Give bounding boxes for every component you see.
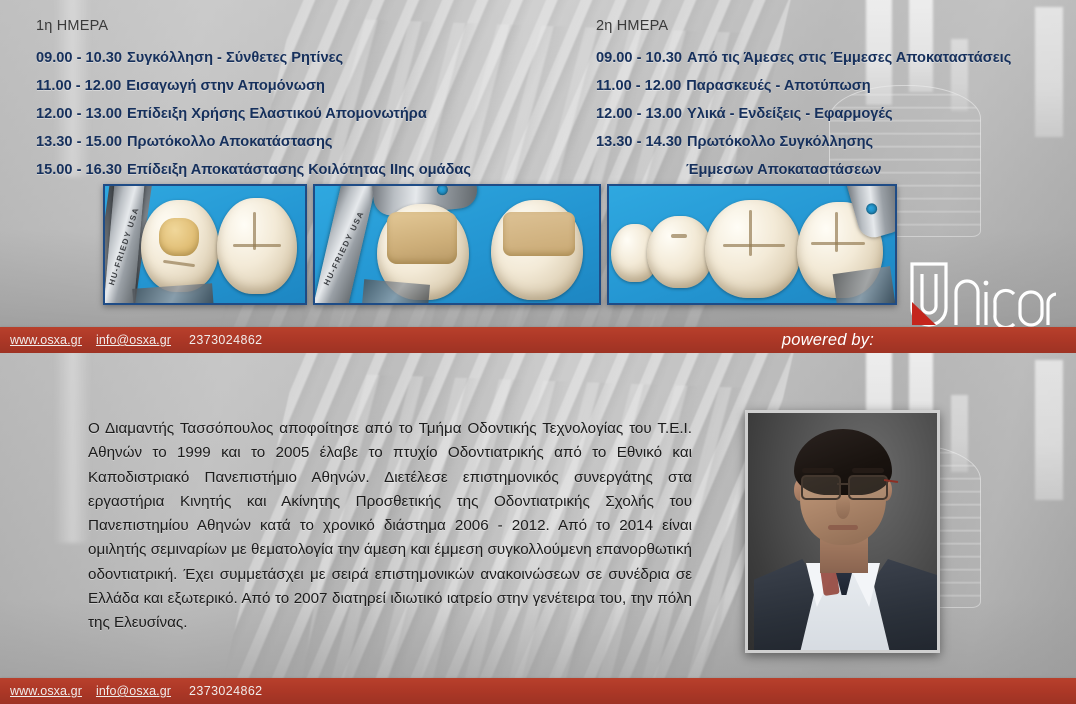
schedule-time: 12.00 - 13.00 bbox=[596, 106, 682, 122]
cavity-preparation bbox=[387, 212, 457, 264]
schedule-row: 09.00 - 10.30Συγκόλληση - Σύνθετες Ρητίν… bbox=[36, 44, 471, 72]
instrument-label: HU-FRIEDY USA bbox=[107, 206, 141, 287]
schedule-section: 1η ΗΜΕΡΑ 09.00 - 10.30Συγκόλληση - Σύνθε… bbox=[0, 0, 1076, 327]
unicon-logo: HELLAS bbox=[906, 262, 1056, 327]
seminar-flyer-page: 1η ΗΜΕΡΑ 09.00 - 10.30Συγκόλληση - Σύνθε… bbox=[0, 0, 1076, 704]
schedule-time: 15.00 - 16.30 bbox=[36, 162, 122, 178]
schedule-row: 11.00 - 12.00Παρασκευές - Αποτύπωση bbox=[596, 72, 1011, 100]
day-label-1: 1η ΗΜΕΡΑ bbox=[36, 18, 471, 34]
schedule-title: Πρωτόκολλο Αποκατάστασης bbox=[127, 134, 332, 150]
schedule-title: Συγκόλληση - Σύνθετες Ρητίνες bbox=[127, 50, 343, 66]
schedule-row: 15.00 - 16.30Επίδειξη Αποκατάστασης Κοιλ… bbox=[36, 156, 471, 184]
inlay-restoration bbox=[159, 218, 199, 256]
website-link[interactable]: www.osxa.gr bbox=[10, 684, 82, 698]
schedule-time: 11.00 - 12.00 bbox=[596, 78, 681, 94]
clinical-photo-2: HU-FRIEDY USA bbox=[313, 184, 601, 305]
email-link[interactable]: info@osxa.gr bbox=[96, 333, 171, 347]
schedule-title: Υλικά - Ενδείξεις - Εφαρμογές bbox=[687, 106, 893, 122]
schedule-column-day1: 1η ΗΜΕΡΑ 09.00 - 10.30Συγκόλληση - Σύνθε… bbox=[36, 18, 471, 184]
schedule-title: Επίδειξη Αποκατάστασης Κοιλότητας ΙΙης ο… bbox=[127, 162, 471, 178]
eyeglasses bbox=[798, 475, 890, 497]
schedule-row: 13.30 - 14.30Πρωτόκολλο Συγκόλλησης bbox=[596, 128, 1011, 156]
schedule-title: Από τις Άμεσες στις Έμμεσες Αποκαταστάσε… bbox=[687, 50, 1011, 66]
contact-bar-bottom: www.osxa.gr info@osxa.gr 2373024862 bbox=[0, 678, 1076, 704]
phone-number: 2373024862 bbox=[189, 684, 263, 698]
schedule-column-day2: 2η ΗΜΕΡΑ 09.00 - 10.30Από τις Άμεσες στι… bbox=[596, 18, 1011, 184]
schedule-row-continuation: Έμμεσων Αποκαταστάσεων bbox=[596, 156, 1011, 184]
schedule-time: 12.00 - 13.00 bbox=[36, 106, 122, 122]
schedule-title: Παρασκευές - Αποτύπωση bbox=[686, 78, 870, 94]
contact-bar-top: www.osxa.gr info@osxa.gr 2373024862 powe… bbox=[0, 327, 1076, 353]
schedule-time: 09.00 - 10.30 bbox=[596, 50, 682, 66]
email-link[interactable]: info@osxa.gr bbox=[96, 684, 171, 698]
schedule-row: 13.30 - 15.00Πρωτόκολλο Αποκατάστασης bbox=[36, 128, 471, 156]
schedule-title: Επίδειξη Χρήσης Ελαστικού Απομονωτήρα bbox=[127, 106, 427, 122]
schedule-row: 12.00 - 13.00Υλικά - Ενδείξεις - Εφαρμογ… bbox=[596, 100, 1011, 128]
schedule-time: 09.00 - 10.30 bbox=[36, 50, 122, 66]
schedule-time: 13.30 - 14.30 bbox=[596, 134, 682, 150]
schedule-row: 12.00 - 13.00Επίδειξη Χρήσης Ελαστικού Α… bbox=[36, 100, 471, 128]
phone-number: 2373024862 bbox=[189, 333, 263, 347]
powered-by-label: powered by: bbox=[782, 327, 874, 353]
schedule-row: 11.00 - 12.00Εισαγωγή στην Απομόνωση bbox=[36, 72, 471, 100]
day-label-2: 2η ΗΜΕΡΑ bbox=[596, 18, 1011, 34]
speaker-portrait-photo bbox=[745, 410, 940, 653]
website-link[interactable]: www.osxa.gr bbox=[10, 333, 82, 347]
schedule-title: Πρωτόκολλο Συγκόλλησης bbox=[687, 134, 873, 150]
schedule-time: 11.00 - 12.00 bbox=[36, 78, 121, 94]
clinical-photo-strip: HU-FRIEDY USA HU-FRIEDY USA bbox=[103, 184, 897, 305]
schedule-time: 13.30 - 15.00 bbox=[36, 134, 122, 150]
schedule-title: Εισαγωγή στην Απομόνωση bbox=[126, 78, 325, 94]
contact-info-top: www.osxa.gr info@osxa.gr 2373024862 bbox=[10, 327, 263, 353]
clinical-photo-3 bbox=[607, 184, 897, 305]
speaker-bio-text: Ο Διαμαντής Τασσόπουλος αποφοίτησε από τ… bbox=[88, 417, 692, 636]
contact-info-bottom: www.osxa.gr info@osxa.gr 2373024862 bbox=[10, 678, 263, 704]
clinical-photo-1: HU-FRIEDY USA bbox=[103, 184, 307, 305]
schedule-row: 09.00 - 10.30Από τις Άμεσες στις Έμμεσες… bbox=[596, 44, 1011, 72]
